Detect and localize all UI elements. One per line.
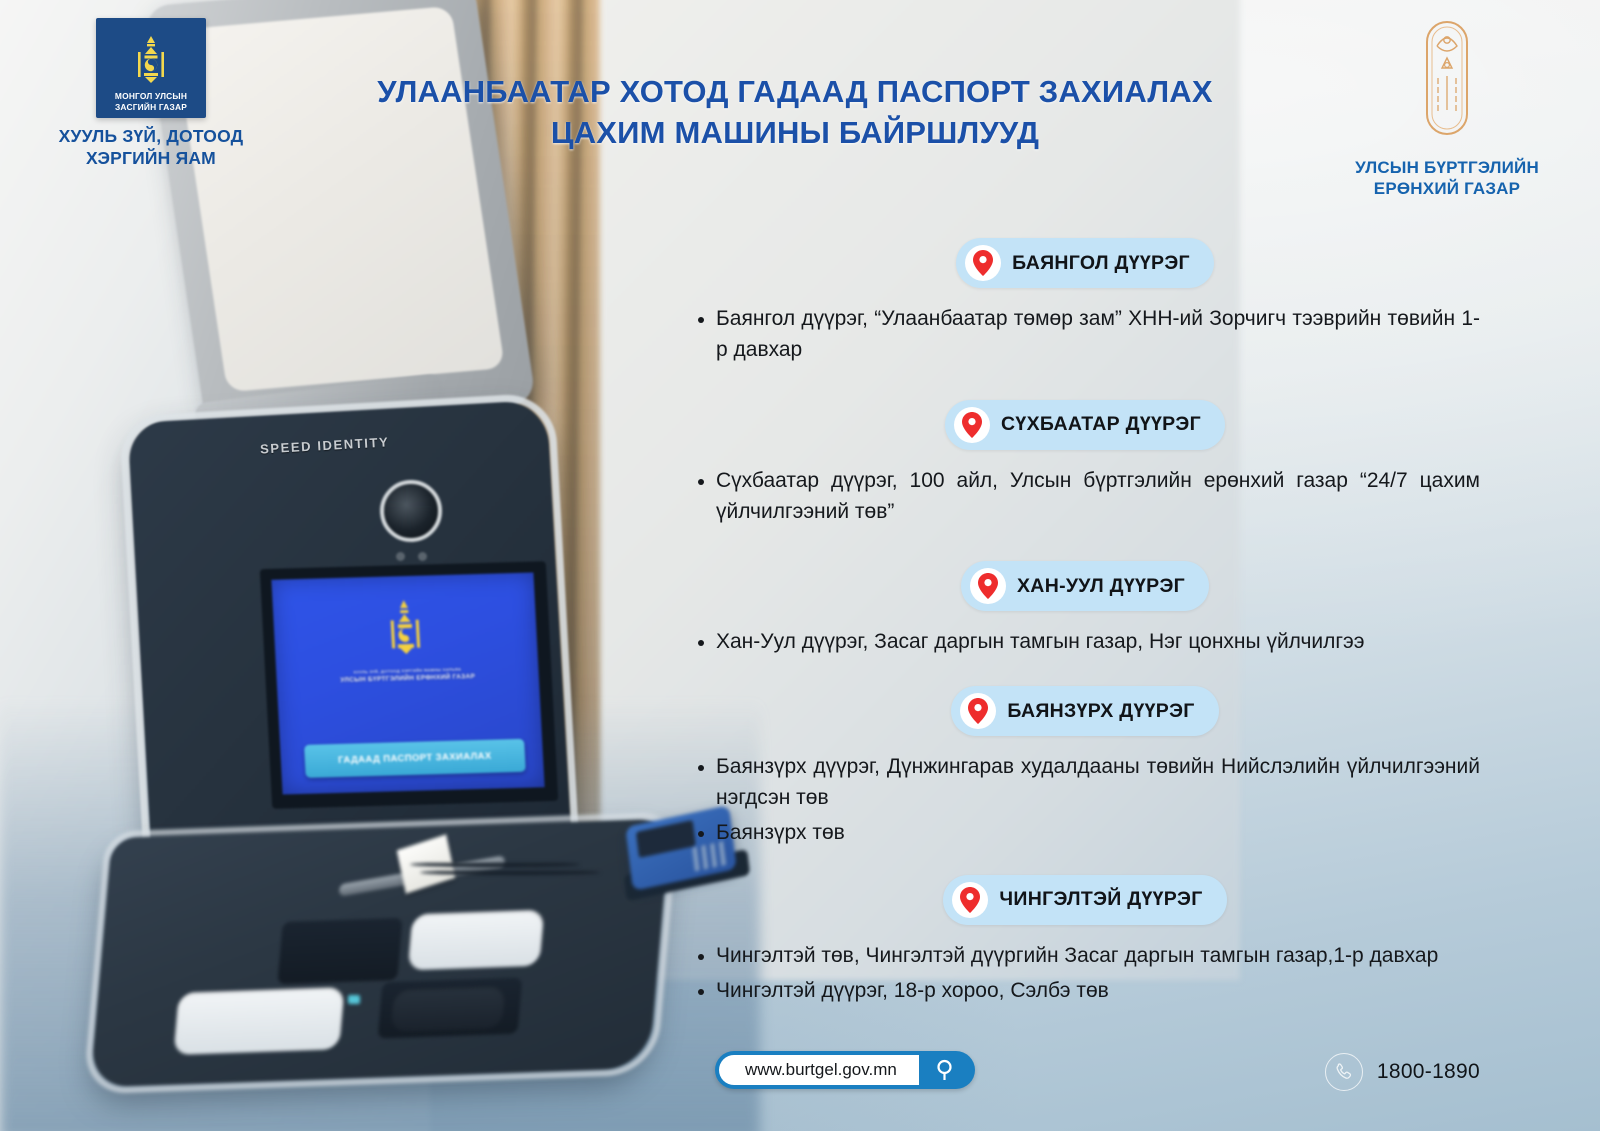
- list-item: Баянзүрх төв: [690, 818, 1480, 849]
- district-badge-label: ХАН-УУЛ ДҮҮРЭГ: [1017, 575, 1185, 598]
- district-badge-bayangol[interactable]: БАЯНГОЛ ДҮҮРЭГ: [956, 238, 1214, 288]
- kiosk-scanner-recess: [277, 918, 402, 984]
- kiosk-screen-org: ХУУЛЬ ЗҮЙ, ДОТООД ХЭРГИЙН ЯАМНЫ ХАРЬЯА У…: [276, 664, 539, 688]
- kiosk-order-passport-button[interactable]: ГАДААД ПАСПОРТ ЗАХИАЛАХ: [304, 739, 526, 778]
- registration-authority-logo: УЛСЫН БҮРТГЭЛИЙН ЕРӨНХИЙ ГАЗАР: [1322, 16, 1572, 200]
- website-url[interactable]: www.burtgel.gov.mn: [719, 1055, 919, 1085]
- district-badge-label: ЧИНГЭЛТЭЙ ДҮҮРЭГ: [999, 888, 1202, 911]
- grga-seal-icon: [1411, 16, 1483, 142]
- list-item: Чингэлтэй дүүрэг, 18-р хороо, Сэлбэ төв: [690, 976, 1480, 1007]
- district-section-chingeltei: ЧИНГЭЛТЭЙ ДҮҮРЭГ Чингэлтэй төв, Чингэлтэ…: [690, 875, 1480, 1007]
- ministry-logo-badge: МОНГОЛ УЛСЫН ЗАСГИЙН ГАЗАР: [96, 18, 206, 118]
- district-badge-chingeltei[interactable]: ЧИНГЭЛТЭЙ ДҮҮРЭГ: [943, 875, 1226, 925]
- phone-contact: 1800-1890: [1325, 1053, 1480, 1091]
- footer: www.burtgel.gov.mn 1800-1890: [690, 1051, 1490, 1097]
- list-item: Баянзүрх дүүрэг, Дүнжингарав худалдааны …: [690, 752, 1480, 814]
- kiosk-touchscreen: ХУУЛЬ ЗҮЙ, ДОТООД ХЭРГИЙН ЯАМНЫ ХАРЬЯА У…: [271, 572, 544, 794]
- location-pin-icon: [960, 693, 996, 729]
- phone-icon: [1325, 1053, 1363, 1091]
- district-badge-khan-uul[interactable]: ХАН-УУЛ ДҮҮРЭГ: [961, 561, 1209, 611]
- district-badge-label: БАЯНЗҮРХ ДҮҮРЭГ: [1007, 700, 1194, 723]
- district-location-list: Баянгол дүүрэг, “Улаанбаатар төмөр зам” …: [690, 304, 1480, 366]
- kiosk-cable: [420, 870, 600, 875]
- poster-canvas: SPEED IDENTITY ХУ: [0, 0, 1600, 1131]
- pos-terminal-screen: [636, 820, 696, 858]
- location-pin-icon: [954, 407, 990, 443]
- phone-number: 1800-1890: [1377, 1060, 1480, 1084]
- district-badge-label: СҮХБААТАР ДҮҮРЭГ: [1001, 413, 1201, 436]
- kiosk-cable: [410, 862, 580, 867]
- district-location-list: Хан-Уул дүүрэг, Засаг даргын тамгын газа…: [690, 627, 1480, 658]
- location-pin-icon: [952, 882, 988, 918]
- kiosk-document-pad: [173, 987, 344, 1055]
- search-icon[interactable]: [919, 1055, 971, 1085]
- registration-authority-line2: ЕРӨНХИЙ ГАЗАР: [1322, 178, 1572, 199]
- registration-authority-line1: УЛСЫН БҮРТГЭЛИЙН: [1322, 157, 1572, 178]
- ministry-name-line1: ХУУЛЬ ЗҮЙ, ДОТООД: [26, 126, 276, 148]
- districts-column: БАЯНГОЛ ДҮҮРЭГ Баянгол дүүрэг, “Улаанбаа…: [690, 238, 1480, 1011]
- district-badge-bayanzurkh[interactable]: БАЯНЗҮРХ ДҮҮРЭГ: [951, 686, 1218, 736]
- page-title-line2: ЦАХИМ МАШИНЫ БАЙРШЛУУД: [330, 113, 1260, 154]
- ministry-name-line2: ХЭРГИЙН ЯАМ: [26, 148, 276, 170]
- soyombo-emblem-icon: [134, 36, 168, 88]
- list-item: Сүхбаатар дүүрэг, 100 айл, Улсын бүртгэл…: [690, 466, 1480, 528]
- district-location-list: Баянзүрх дүүрэг, Дүнжингарав худалдааны …: [690, 752, 1480, 849]
- kiosk-nfc-indicator: [348, 995, 360, 1004]
- page-title: УЛААНБААТАР ХОТОД ГАДААД ПАСПОРТ ЗАХИАЛА…: [330, 72, 1260, 154]
- district-section-bayanzurkh: БАЯНЗҮРХ ДҮҮРЭГ Баянзүрх дүүрэг, Дүнжинг…: [690, 686, 1480, 849]
- page-title-line1: УЛААНБААТАР ХОТОД ГАДААД ПАСПОРТ ЗАХИАЛА…: [330, 72, 1260, 113]
- location-pin-icon: [970, 568, 1006, 604]
- website-search-bar[interactable]: www.burtgel.gov.mn: [715, 1051, 975, 1089]
- location-pin-icon: [965, 245, 1001, 281]
- list-item: Хан-Уул дүүрэг, Засаг даргын тамгын газа…: [690, 627, 1480, 658]
- district-badge-label: БАЯНГОЛ ДҮҮРЭГ: [1012, 252, 1190, 275]
- district-section-bayangol: БАЯНГОЛ ДҮҮРЭГ Баянгол дүүрэг, “Улаанбаа…: [690, 238, 1480, 366]
- kiosk-fingerprint-pad: [408, 910, 545, 971]
- list-item: Баянгол дүүрэг, “Улаанбаатар төмөр зам” …: [690, 304, 1480, 366]
- district-badge-sukhbaatar[interactable]: СҮХБААТАР ДҮҮРЭГ: [945, 400, 1225, 450]
- district-location-list: Чингэлтэй төв, Чингэлтэй дүүргийн Засаг …: [690, 941, 1480, 1007]
- ministry-logo: МОНГОЛ УЛСЫН ЗАСГИЙН ГАЗАР ХУУЛЬ ЗҮЙ, ДО…: [26, 18, 276, 170]
- list-item: Чингэлтэй төв, Чингэлтэй дүүргийн Засаг …: [690, 941, 1480, 972]
- district-section-khan-uul: ХАН-УУЛ ДҮҮРЭГ Хан-Уул дүүрэг, Засаг дар…: [690, 561, 1480, 658]
- district-location-list: Сүхбаатар дүүрэг, 100 айл, Улсын бүртгэл…: [690, 466, 1480, 528]
- district-section-sukhbaatar: СҮХБААТАР ДҮҮРЭГ Сүхбаатар дүүрэг, 100 а…: [690, 400, 1480, 528]
- ministry-badge-line2: ЗАСГИЙН ГАЗАР: [115, 102, 187, 113]
- ministry-badge-line1: МОНГОЛ УЛСЫН: [115, 91, 187, 102]
- kiosk-card-slot: [390, 986, 506, 1032]
- soyombo-emblem-screen: [382, 598, 429, 661]
